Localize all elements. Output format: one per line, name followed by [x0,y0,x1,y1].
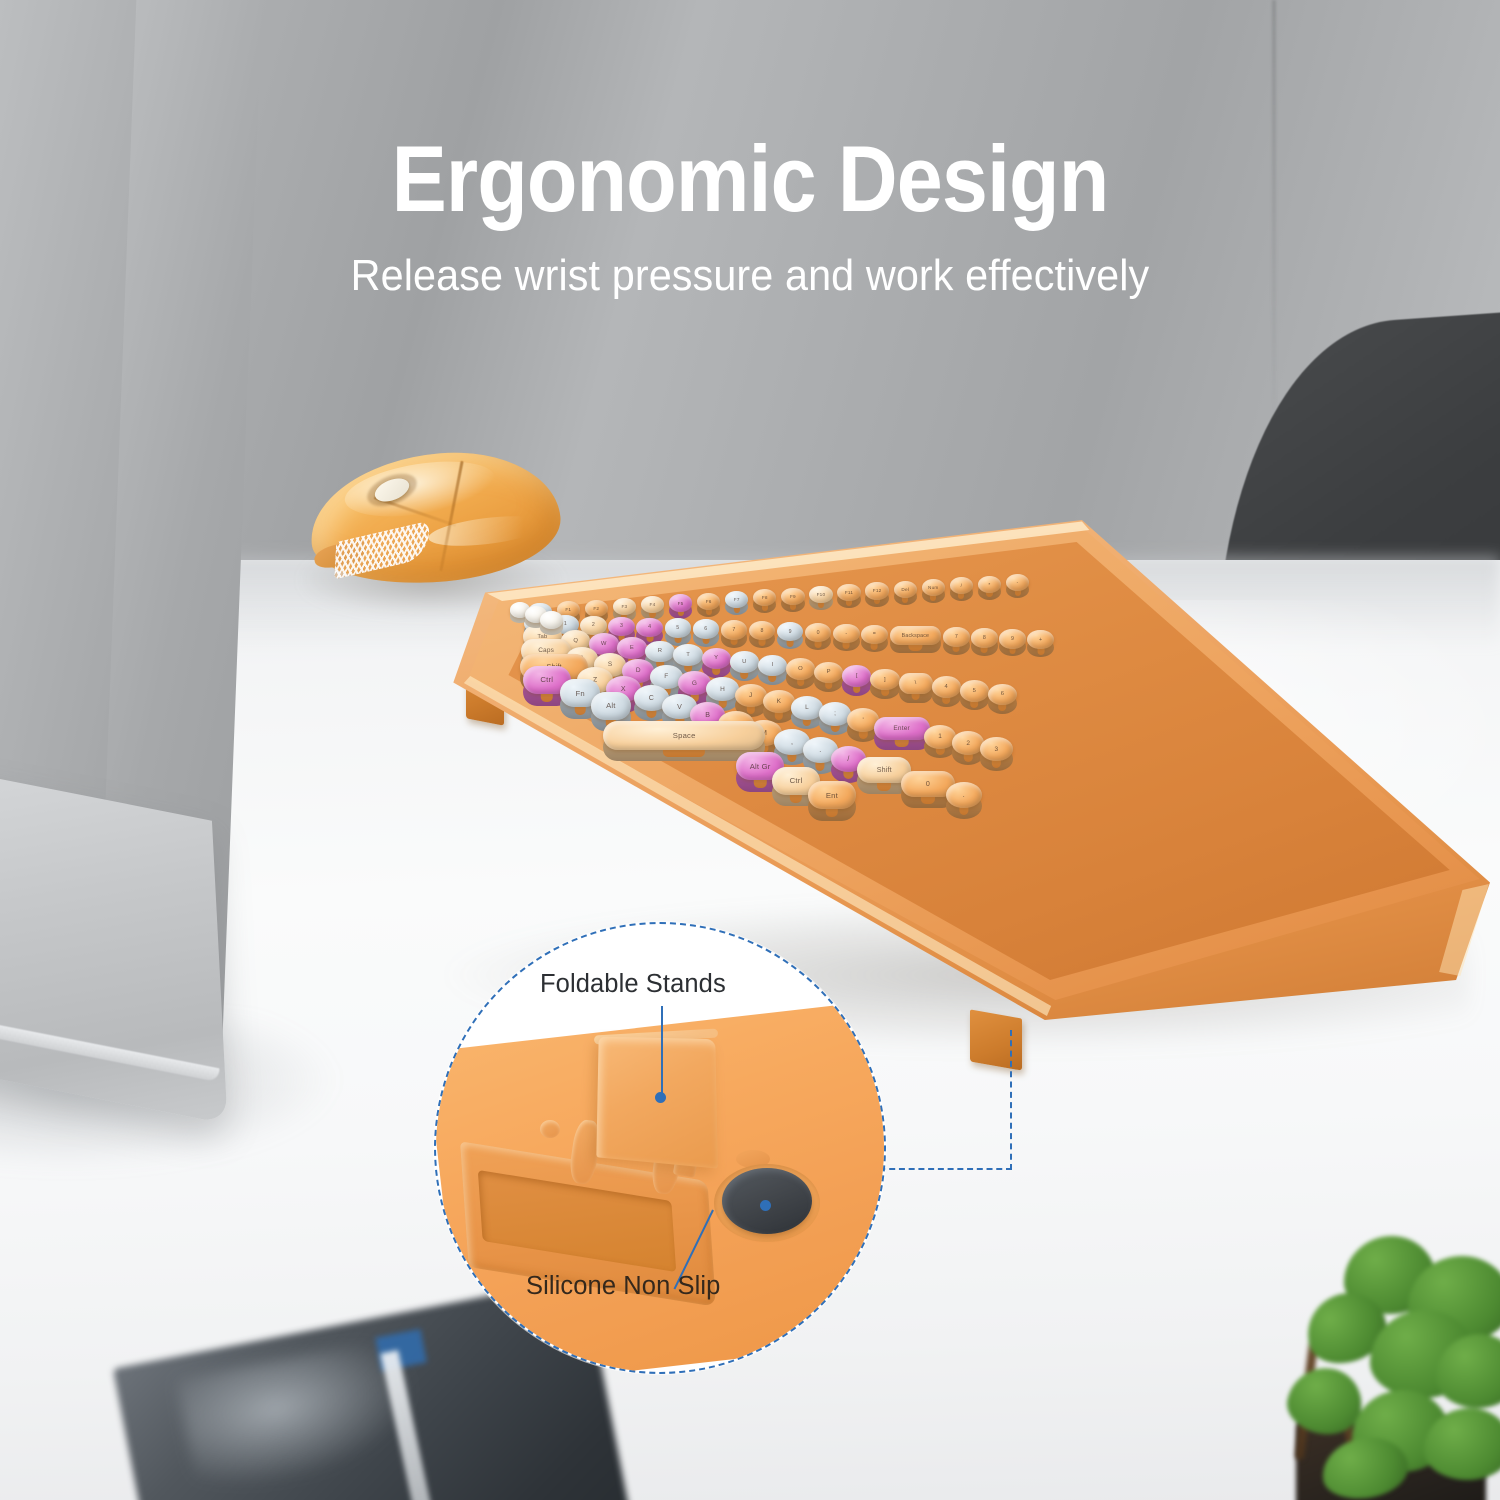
keycap-label: Del [894,581,917,598]
keycap[interactable]: Backspace [890,626,941,645]
keycap[interactable]: Enter [874,717,930,741]
keycap-label: 7 [721,620,747,639]
keycap-label: I [758,655,787,677]
keycap[interactable]: 6 [693,619,719,638]
keycap[interactable]: F8 [753,589,776,606]
headline-block: Ergonomic Design Release wrist pressure … [0,132,1500,300]
keycap-label: Y [702,648,731,670]
keycap[interactable]: 8 [749,621,775,640]
keycap-label: Backspace [890,626,941,645]
keycap[interactable]: 8 [971,628,997,647]
keycap[interactable]: F10 [809,586,832,603]
keycap-label: F4 [641,596,664,613]
keycap-label: - [833,624,859,643]
keycap-label: T [673,644,702,666]
keycap[interactable]: Alt [591,692,632,720]
keycap[interactable]: * [978,576,1001,593]
keycap-label: [ [842,665,871,687]
page-title: Ergonomic Design [90,132,1410,226]
keycap[interactable]: F9 [781,588,804,605]
keycap-label: 5 [960,680,989,702]
foldable-stand-flap[interactable] [596,1037,718,1169]
product-scene: EscF1F2F3F4F5F6F7F8F9F10F11F12DelNum/*-~… [0,0,1500,1500]
keycap[interactable]: O [786,658,815,680]
keycap[interactable]: F5 [669,594,692,611]
keycap[interactable]: Space [603,721,765,749]
keycap-label: Space [603,721,765,749]
leader-dot-stands [655,1092,666,1103]
keycap[interactable]: 7 [943,627,969,646]
keycap[interactable]: / [950,577,973,594]
leader-line-stands [661,1006,663,1098]
keycap-label: 8 [749,621,775,640]
keycap-label: + [1027,630,1053,649]
keycap[interactable]: F6 [697,593,720,610]
keycap-label: F3 [613,598,636,615]
keycap[interactable]: 4 [932,676,961,698]
keycap[interactable]: U [730,651,759,673]
keycap[interactable]: \ [899,673,933,695]
keycap[interactable]: F12 [865,582,888,599]
connector-vertical-segment [1010,1030,1012,1170]
leader-dot-silicone [760,1200,771,1211]
keycap[interactable]: 4 [636,618,662,637]
keycap-label: ] [870,669,899,691]
keycap[interactable]: 6 [988,684,1017,706]
keycap[interactable]: Num [922,579,945,596]
keycap-label: Enter [874,717,930,741]
silicone-non-slip-label: Silicone Non Slip [526,1272,720,1301]
keycap[interactable]: ] [870,669,899,691]
keycap[interactable]: - [1006,574,1029,591]
stand-pivot-pin [540,1120,560,1138]
keycap-label: F10 [809,586,832,603]
keycap[interactable]: 9 [999,629,1025,648]
keycap-label: 4 [636,618,662,637]
keycap-label: 6 [693,619,719,638]
foldable-stands-label: Foldable Stands [540,970,726,999]
keycap-label: F2 [585,600,608,617]
keycap[interactable]: T [673,644,702,666]
keycap-label: 9 [777,622,803,641]
keycap-label: - [1006,574,1029,591]
keycap[interactable]: 7 [721,620,747,639]
keycap-label: 7 [943,627,969,646]
keycap-label: F5 [669,594,692,611]
keycap-label: \ [899,673,933,695]
keycap-label: / [950,577,973,594]
keycap-label: 5 [665,618,691,637]
keycap[interactable]: . [946,782,981,808]
keycap-label: O [786,658,815,680]
keycap-label: = [861,625,887,644]
keycap[interactable]: Y [702,648,731,670]
keycap[interactable]: = [861,625,887,644]
keycap-label: 4 [932,676,961,698]
keycap[interactable]: F2 [585,600,608,617]
keycap[interactable]: 5 [665,618,691,637]
keycap-label: Num [922,579,945,596]
keycap-label: F11 [837,584,860,601]
keycap[interactable]: Del [894,581,917,598]
keycap[interactable]: [ [842,665,871,687]
keycap-label: 0 [805,623,831,642]
keycap-label: F7 [725,591,748,608]
keycap[interactable]: F7 [725,591,748,608]
keycap[interactable]: + [1027,630,1053,649]
keycap-label: 8 [971,628,997,647]
keycap[interactable]: F4 [641,596,664,613]
keycap[interactable]: 3 [980,737,1012,761]
keycap-label: U [730,651,759,673]
keycap[interactable]: I [758,655,787,677]
callout-circle: Foldable Stands Silicone Non Slip [434,922,886,1374]
keycap-label: F6 [697,593,720,610]
keycap[interactable]: F11 [837,584,860,601]
keycap[interactable]: Ent [808,781,856,809]
keycap[interactable]: P [814,662,843,684]
keycap-label: F8 [753,589,776,606]
keycap-label: 6 [988,684,1017,706]
keycap[interactable]: 0 [805,623,831,642]
keycap-label: 3 [980,737,1012,761]
keycap-label: . [946,782,981,808]
keycap[interactable]: 9 [777,622,803,641]
indicator-keycap[interactable] [540,611,563,629]
keycap[interactable]: F3 [613,598,636,615]
keycap[interactable]: - [833,624,859,643]
keycap-label: F9 [781,588,804,605]
keycap-label: Alt [591,692,632,720]
feature-callout: Foldable Stands Silicone Non Slip [434,922,886,1374]
keycap-label: 9 [999,629,1025,648]
keycap-label: * [978,576,1001,593]
plant-foliage [1248,1248,1500,1478]
keycap-label: F12 [865,582,888,599]
keycap-label: Ent [808,781,856,809]
page-subtitle: Release wrist pressure and work effectiv… [45,252,1455,300]
keycap-label: P [814,662,843,684]
keycap[interactable]: 5 [960,680,989,702]
